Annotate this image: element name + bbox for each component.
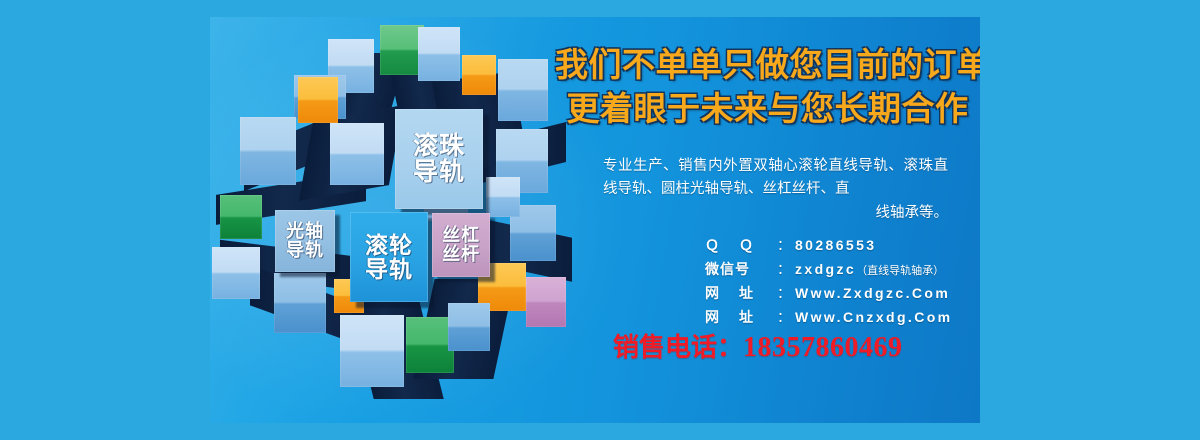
cube-lead-screw-label-1: 丝杠	[442, 226, 480, 245]
decorative-cube	[462, 55, 496, 95]
banner-copy: 我们不单单只做您目前的订单 更着眼于未来与您长期合作 专业生产、销售内外置双轴心…	[555, 17, 980, 423]
headline-line-1: 我们不单单只做您目前的订单	[555, 43, 980, 87]
decorative-cube	[340, 315, 404, 387]
headline-line-2: 更着眼于未来与您长期合作	[555, 87, 980, 131]
decorative-cube	[212, 247, 260, 299]
contact-label-website-2: 网 址	[705, 307, 777, 327]
cube-lead-screw[interactable]: 丝杠 丝杆	[432, 213, 490, 277]
decorative-cube	[274, 273, 326, 333]
description-line-1: 专业生产、销售内外置双轴心滚轮直线导轨、	[603, 158, 903, 174]
decorative-cube	[448, 303, 490, 351]
decorative-cube	[498, 59, 548, 121]
contact-row-website-1: 网 址 ： Www.Zxdgzc.Com	[705, 283, 980, 303]
decorative-cube	[240, 117, 296, 185]
decorative-cube	[298, 77, 338, 123]
cube-shaft-rail-label-2: 导轨	[286, 241, 324, 260]
contact-row-website-2: 网 址 ： Www.Cnzxdg.Com	[705, 307, 980, 327]
contact-value-wechat[interactable]: zxdgzc	[795, 261, 856, 277]
cube-cluster-graphic: 滚珠 导轨 滚轮 导轨 光轴 导轨	[210, 17, 570, 423]
cube-shaft-rail-label-1: 光轴	[286, 222, 324, 241]
decorative-cube	[486, 177, 520, 217]
decorative-cube	[418, 27, 460, 81]
contact-row-qq: Ｑ Ｑ ： 80286553	[705, 235, 980, 255]
description: 专业生产、销售内外置双轴心滚轮直线导轨、滚珠直线导轨、圆柱光轴导轨、丝杠丝杆、直…	[603, 155, 948, 225]
contact-list: Ｑ Ｑ ： 80286553 微信号 ： zxdgzc （直线导轨轴承） 网 址…	[705, 235, 980, 331]
decorative-cube	[220, 195, 262, 239]
cube-shaft-rail[interactable]: 光轴 导轨	[275, 210, 335, 272]
contact-separator: ：	[777, 283, 791, 303]
cube-ball-rail-label-1: 滚珠	[413, 133, 465, 160]
decorative-cube	[406, 317, 454, 373]
cube-roller-rail[interactable]: 滚轮 导轨	[350, 212, 428, 302]
cube-ball-rail-label-2: 导轨	[413, 159, 465, 186]
contact-value-website-1[interactable]: Www.Zxdgzc.Com	[795, 285, 950, 301]
sales-phone[interactable]: 销售电话：18357860469	[613, 327, 980, 364]
contact-value-website-2[interactable]: Www.Cnzxdg.Com	[795, 309, 953, 325]
contact-label-qq: Ｑ Ｑ	[705, 235, 777, 255]
contact-separator: ：	[777, 235, 791, 255]
contact-label-website-1: 网 址	[705, 283, 777, 303]
contact-separator: ：	[777, 259, 791, 279]
decorative-cube	[330, 123, 384, 185]
cube-roller-rail-label-2: 导轨	[365, 257, 413, 281]
sales-phone-number[interactable]: 18357860469	[743, 332, 903, 363]
contact-value-qq[interactable]: 80286553	[795, 237, 877, 253]
sales-phone-label: 销售电话：	[613, 332, 743, 362]
cube-roller-rail-label-1: 滚轮	[365, 233, 413, 257]
contact-label-wechat: 微信号	[705, 259, 777, 279]
contact-row-wechat: 微信号 ： zxdgzc （直线导轨轴承）	[705, 259, 980, 279]
promo-banner: 滚珠 导轨 滚轮 导轨 光轴 导轨	[210, 17, 980, 423]
description-line-3: 线轴承等。	[603, 202, 948, 225]
page-root: 滚珠 导轨 滚轮 导轨 光轴 导轨	[0, 0, 1200, 440]
cube-lead-screw-label-2: 丝杆	[442, 245, 480, 264]
contact-note-wechat: （直线导轨轴承）	[856, 262, 944, 278]
headline: 我们不单单只做您目前的订单 更着眼于未来与您长期合作	[555, 43, 980, 131]
contact-separator: ：	[777, 307, 791, 327]
cube-ball-rail[interactable]: 滚珠 导轨	[395, 109, 483, 209]
